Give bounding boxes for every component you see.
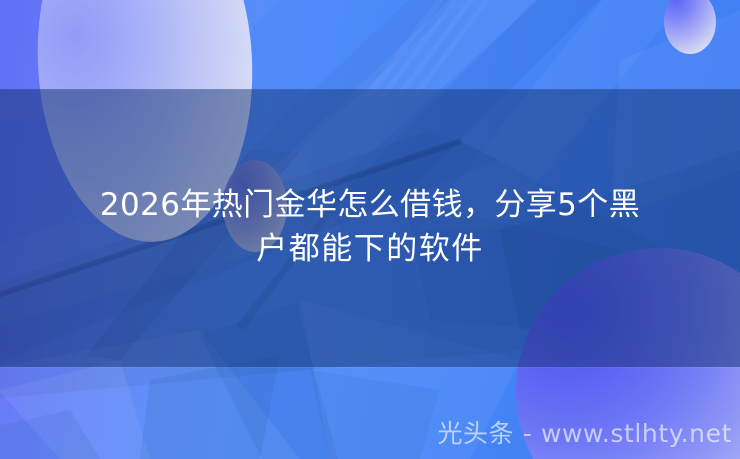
banner-title: 2026年热门金华怎么借钱，分享5个黑 户都能下的软件 xyxy=(0,183,740,271)
band-seam-bottom xyxy=(0,367,740,368)
promo-banner: 2026年热门金华怎么借钱，分享5个黑 户都能下的软件 光头条 - www.st… xyxy=(0,0,740,459)
site-watermark: 光头条 - www.stlhty.net xyxy=(437,419,732,449)
band-seam-top xyxy=(0,89,740,90)
banner-title-line-2: 户都能下的软件 xyxy=(26,227,714,271)
banner-title-line-1: 2026年热门金华怎么借钱，分享5个黑 xyxy=(26,183,714,227)
